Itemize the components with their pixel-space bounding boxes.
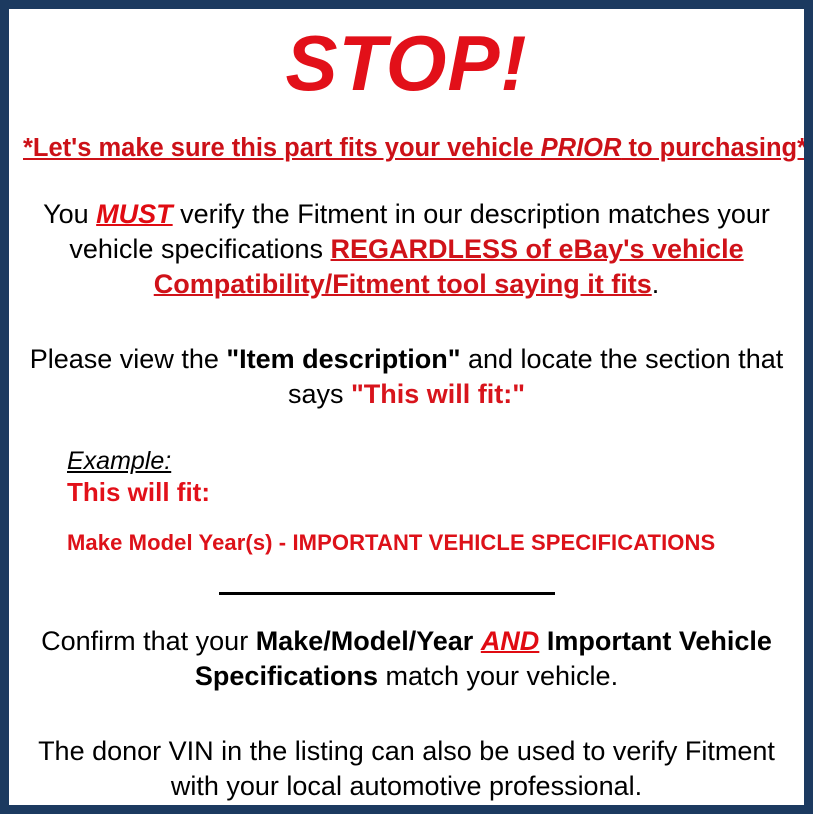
stop-heading: STOP! — [23, 9, 790, 111]
example-label-row: Example: — [67, 446, 790, 476]
example-spec-line: Make Model Year(s) - IMPORTANT VEHICLE S… — [67, 530, 790, 556]
item-description-emphasis: "Item description" — [226, 344, 460, 374]
confirm-paragraph: Confirm that your Make/Model/Year AND Im… — [23, 624, 790, 694]
item-description-paragraph: Please view the "Item description" and l… — [23, 342, 790, 412]
and-emphasis: AND — [481, 626, 540, 656]
confirm-lead: Confirm that your — [41, 626, 256, 656]
this-will-fit-emphasis: "This will fit:" — [351, 379, 525, 409]
example-block: Example: This will fit: Make Model Year(… — [23, 446, 790, 556]
confirm-space-1 — [473, 626, 481, 656]
example-fit-heading: This will fit: — [67, 477, 790, 508]
notice-content: STOP! *Let's make sure this part fits yo… — [9, 9, 804, 805]
must-paragraph-tail: . — [652, 269, 660, 299]
make-model-year-emphasis: Make/Model/Year — [256, 626, 474, 656]
must-verify-paragraph: You MUST verify the Fitment in our descr… — [23, 197, 790, 302]
vin-paragraph: The donor VIN in the listing can also be… — [23, 734, 790, 804]
must-paragraph-lead: You — [43, 199, 96, 229]
section-divider — [219, 592, 555, 595]
subtitle-line: *Let's make sure this part fits your veh… — [23, 133, 790, 163]
confirm-tail: match your vehicle. — [378, 661, 618, 691]
item-description-lead: Please view the — [30, 344, 227, 374]
subtitle-after: to purchasing* — [621, 134, 807, 162]
subtitle-before: *Let's make sure this part fits your veh… — [23, 134, 541, 162]
confirm-space-2 — [539, 626, 547, 656]
must-emphasis: MUST — [96, 199, 173, 229]
fitment-notice-card: STOP! *Let's make sure this part fits yo… — [0, 0, 813, 814]
section-divider-wrapper — [23, 582, 790, 592]
example-label: Example: — [67, 446, 171, 476]
subtitle-prior-emphasis: PRIOR — [541, 134, 622, 162]
